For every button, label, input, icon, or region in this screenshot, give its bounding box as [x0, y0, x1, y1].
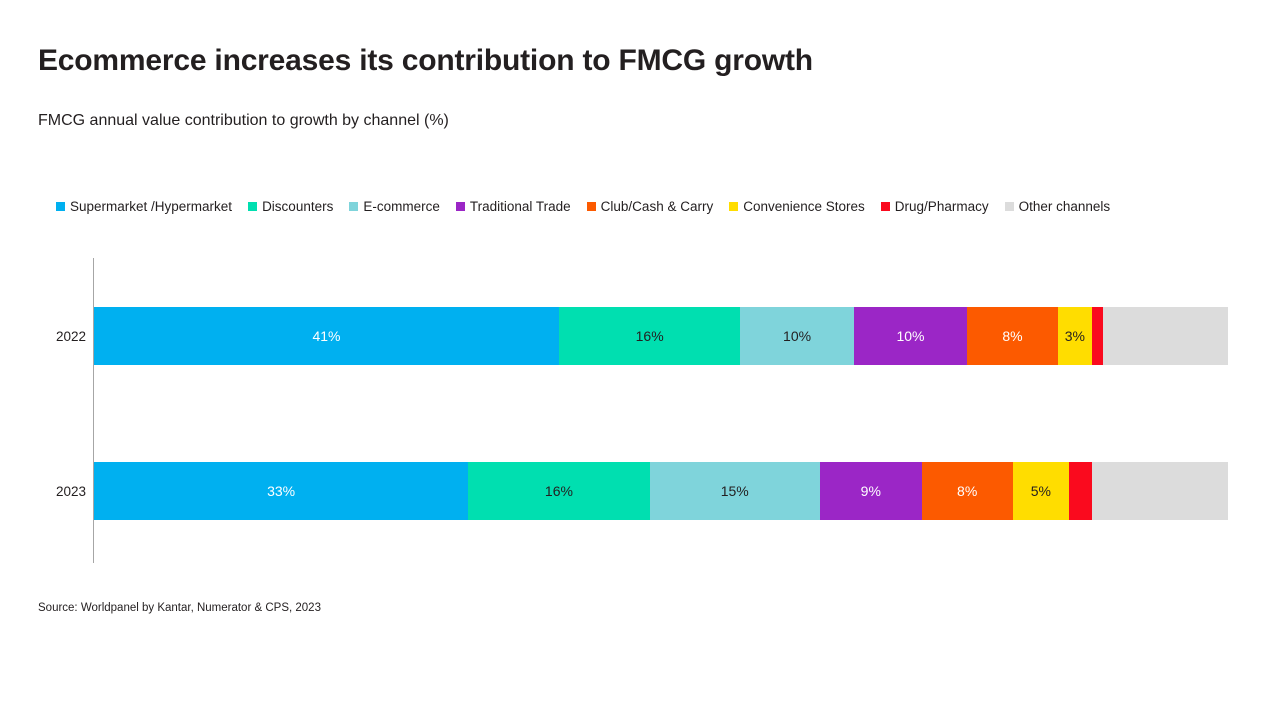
bar-segment[interactable]: 16% [468, 462, 649, 520]
bar-segment[interactable]: 33% [94, 462, 468, 520]
bar-segment[interactable]: 9% [820, 462, 922, 520]
bar-segment-value-label: 3% [1065, 329, 1085, 343]
bar-segment[interactable]: 5% [1013, 462, 1070, 520]
bar-segment[interactable] [1092, 307, 1103, 365]
bar-segment-value-label: 5% [1031, 484, 1051, 498]
bar-row: 41%16%10%10%8%3% [94, 307, 1228, 365]
bar-segment-value-label: 41% [312, 329, 340, 343]
bar-segment-value-label: 16% [545, 484, 573, 498]
bar-segment[interactable] [1069, 462, 1092, 520]
category-axis-label: 2023 [40, 484, 86, 499]
bar-segment[interactable]: 8% [922, 462, 1013, 520]
bar-segment-value-label: 10% [896, 329, 924, 343]
bar-segment-value-label: 8% [957, 484, 977, 498]
bar-segment[interactable]: 3% [1058, 307, 1092, 365]
bar-segment[interactable]: 10% [740, 307, 853, 365]
bar-segment-value-label: 8% [1002, 329, 1022, 343]
slide-canvas: Ecommerce increases its contribution to … [0, 0, 1280, 720]
bar-segment[interactable] [1103, 307, 1228, 365]
bar-segment-value-label: 16% [636, 329, 664, 343]
category-axis-label: 2022 [40, 329, 86, 344]
bar-segment-value-label: 33% [267, 484, 295, 498]
source-note: Source: Worldpanel by Kantar, Numerator … [38, 602, 321, 614]
bar-segment-value-label: 9% [861, 484, 881, 498]
bar-segment[interactable]: 10% [854, 307, 967, 365]
bar-segment[interactable] [1092, 462, 1228, 520]
bar-segment[interactable]: 41% [94, 307, 559, 365]
bar-row: 33%16%15%9%8%5% [94, 462, 1228, 520]
bar-segment[interactable]: 16% [559, 307, 740, 365]
bar-segment[interactable]: 15% [650, 462, 820, 520]
bar-segment[interactable]: 8% [967, 307, 1058, 365]
bar-segment-value-label: 15% [721, 484, 749, 498]
bar-segment-value-label: 10% [783, 329, 811, 343]
